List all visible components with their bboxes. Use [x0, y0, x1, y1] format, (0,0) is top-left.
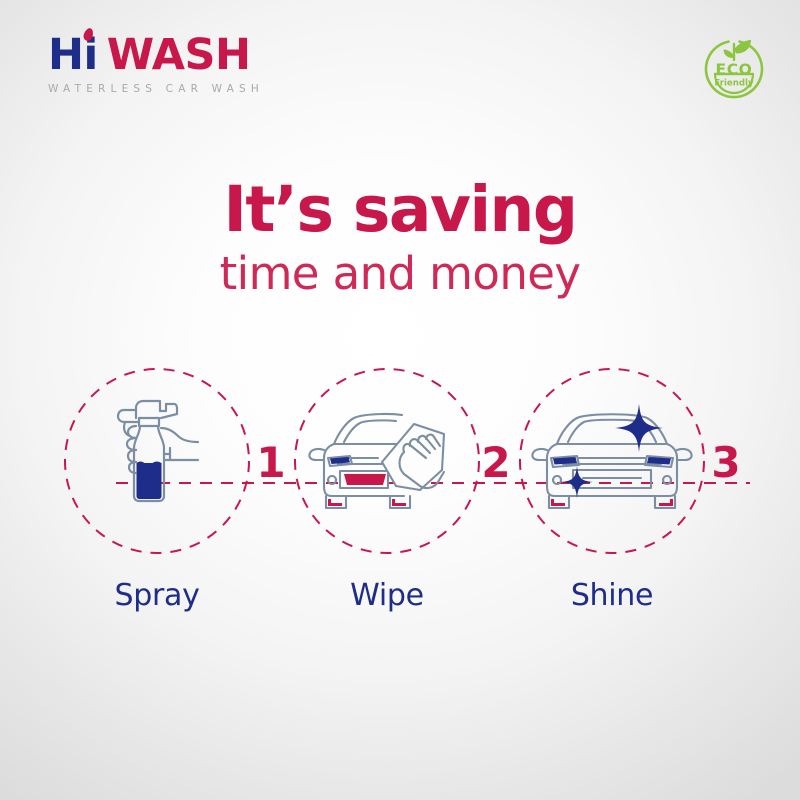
step-2-number: 2 [473, 442, 519, 484]
headline-secondary: time and money [0, 248, 800, 300]
bottle-liquid-fill [137, 463, 162, 499]
eco-friendly-badge: ECO Friendly [701, 36, 767, 102]
steps-section: Spray 1 [0, 360, 800, 620]
car-front-with-wiping-hand-icon [292, 366, 482, 556]
step-1-number: 1 [248, 442, 294, 484]
car-wheel-left-accent [328, 499, 342, 506]
brand-logo: Hi WASH WATERLESS CAR WASH [48, 34, 348, 95]
step-1-label: Spray [42, 578, 272, 613]
car-front-with-sparkles-icon [517, 366, 707, 556]
car-wheel-right-accent [659, 499, 673, 506]
step-3-number: 3 [703, 442, 749, 484]
car-mirror-icon [309, 449, 324, 460]
bottle-neck-icon [139, 418, 159, 426]
wrist-upper-icon [161, 428, 198, 442]
car-mirror-left-icon [532, 449, 547, 460]
car-foglamp-icon [328, 476, 336, 484]
eco-badge-svg: ECO Friendly [701, 36, 767, 102]
car-grille-fill [344, 474, 386, 485]
step-item-shine[interactable]: Shine [517, 366, 707, 556]
logo-hi-text: Hi [48, 34, 98, 77]
eco-badge-line1: ECO [716, 61, 753, 79]
car-wheel-right-accent [392, 499, 406, 506]
car-windshield-icon [344, 420, 396, 442]
car-wheel-left-accent [551, 499, 565, 506]
headline-primary: It’s saving [0, 178, 800, 242]
poster-canvas: Hi WASH WATERLESS CAR WASH ECO Friendly [0, 0, 800, 800]
step-item-spray[interactable]: Spray [62, 366, 252, 556]
eco-badge-line2: Friendly [714, 79, 754, 89]
logo-wash-label: WASH [107, 30, 251, 80]
spray-bottle-in-hand-icon [62, 366, 252, 556]
logo-wordmark: Hi WASH [48, 34, 348, 77]
finger-1-icon [128, 426, 136, 438]
step-item-wipe[interactable]: Wipe [292, 366, 482, 556]
step-2-label: Wipe [272, 578, 502, 613]
car-mirror-right-icon [677, 449, 692, 460]
bottle-nozzle-icon [136, 401, 177, 418]
logo-tagline: WATERLESS CAR WASH [48, 83, 348, 95]
car-foglamp-left-icon [553, 476, 561, 484]
eco-leaf-left-icon [724, 50, 734, 59]
step-3-label: Shine [497, 578, 727, 613]
car-foglamp-right-icon [663, 476, 671, 484]
headline: It’s saving time and money [0, 178, 800, 300]
